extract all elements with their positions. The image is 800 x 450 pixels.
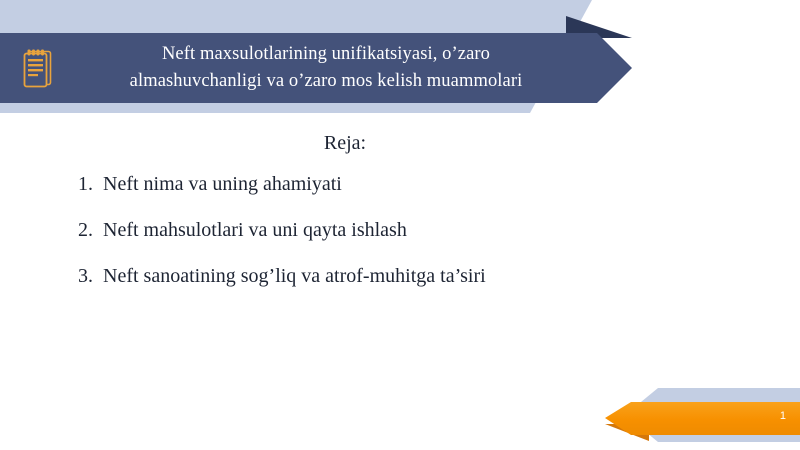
outline-heading: Reja: <box>0 132 800 155</box>
notepad-icon <box>20 45 54 89</box>
outline-list: 1. Neft nima va uning ahamiyati 2. Neft … <box>0 173 800 288</box>
list-item-text: Neft mahsulotlari va uni qayta ishlash <box>103 219 407 241</box>
slide-title: Neft maxsulotlarining unifikatsiyasi, o’… <box>66 36 586 100</box>
list-item-text: Neft nima va uning ahamiyati <box>103 173 342 195</box>
presentation-slide: Neft maxsulotlarining unifikatsiyasi, o’… <box>0 0 800 450</box>
list-item-text: Neft sanoatining sog’liq va atrof-muhitg… <box>103 265 486 287</box>
slide-title-line-1: Neft maxsulotlarining unifikatsiyasi, o’… <box>162 41 490 68</box>
page-number: 1 <box>780 410 786 422</box>
list-item: 2. Neft mahsulotlari va uni qayta ishlas… <box>78 219 800 242</box>
footer-ribbon <box>605 402 800 435</box>
slide-body: Reja: 1. Neft nima va uning ahamiyati 2.… <box>0 132 800 311</box>
list-item: 1. Neft nima va uning ahamiyati <box>78 173 800 196</box>
list-item-number: 1. <box>78 173 93 195</box>
list-item-number: 2. <box>78 219 93 241</box>
list-item: 3. Neft sanoatining sog’liq va atrof-muh… <box>78 265 800 288</box>
slide-title-line-2: almashuvchanligi va o’zaro mos kelish mu… <box>130 68 523 95</box>
list-item-number: 3. <box>78 265 93 287</box>
